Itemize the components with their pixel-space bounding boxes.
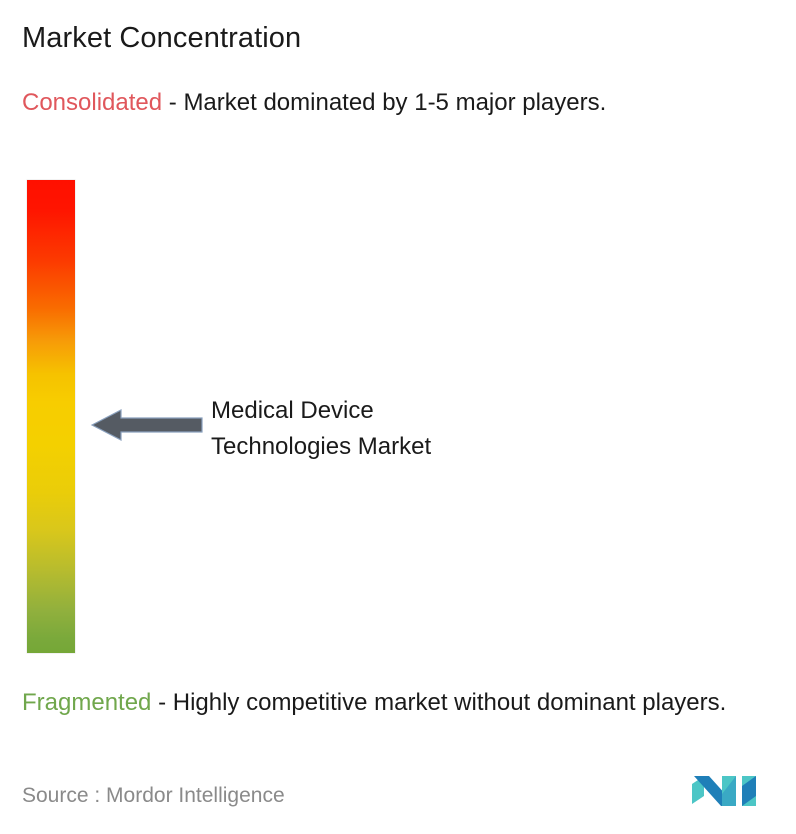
legend-fragmented-description: - Highly competitive market without domi… <box>151 689 726 716</box>
legend-fragmented-keyword: Fragmented <box>22 689 151 716</box>
annotation-label-line1: Medical Device <box>211 393 571 429</box>
legend-fragmented: Fragmented - Highly competitive market w… <box>22 686 784 719</box>
annotation-label: Medical Device Technologies Market <box>211 393 571 465</box>
legend-consolidated-keyword: Consolidated <box>22 89 162 116</box>
left-arrow-icon <box>90 408 204 442</box>
legend-consolidated: Consolidated - Market dominated by 1-5 m… <box>22 86 762 119</box>
source-note: Source : Mordor Intelligence <box>22 782 285 810</box>
market-concentration-chart: Market Concentration Consolidated - Mark… <box>0 0 796 834</box>
page-title: Market Concentration <box>22 20 301 56</box>
mordor-intelligence-logo-icon <box>692 770 766 812</box>
concentration-gradient-bar <box>27 180 75 653</box>
annotation-label-line2: Technologies Market <box>211 429 571 465</box>
legend-consolidated-description: - Market dominated by 1-5 major players. <box>162 89 606 116</box>
